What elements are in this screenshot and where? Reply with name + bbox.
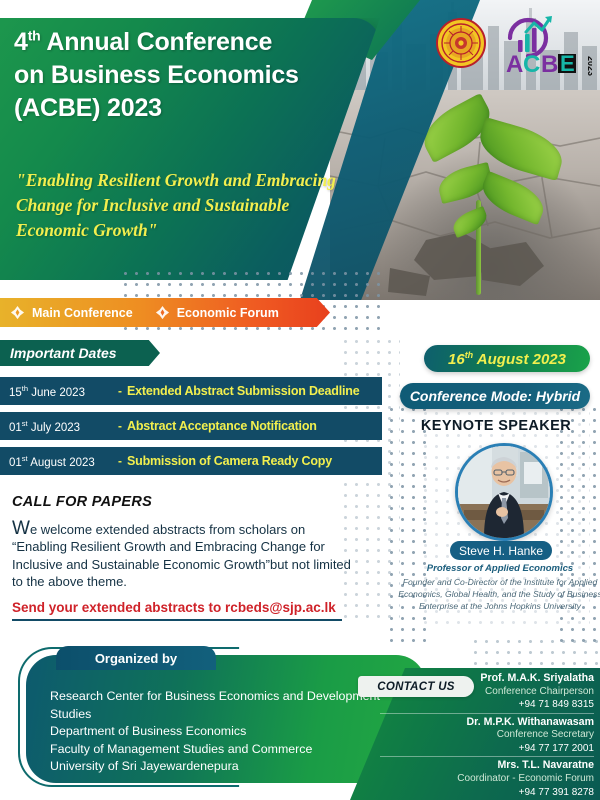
contact-role: Coordinator - Economic Forum [380,773,594,786]
diamond-ornament-icon [155,305,170,320]
contact-phone[interactable]: +94 71 849 8315 [380,698,594,713]
date-event: Submission of Camera Ready Copy [127,454,332,468]
date-event: Extended Abstract Submission Deadline [127,384,359,398]
submission-email-line[interactable]: Send your extended abstracts to rcbeds@s… [12,600,342,621]
date-cell: 15th June 2023 [0,384,113,399]
svg-text:E: E [560,51,575,76]
svg-text:2023: 2023 [586,56,592,76]
speaker-role: Professor of Applied Economics [400,563,600,574]
call-for-papers-heading: CALL FOR PAPERS [12,494,152,510]
important-dates-heading: Important Dates [0,340,160,366]
title-line-1: 4th Annual Conference [14,28,272,56]
event-date-text: 16th August 2023 [448,350,566,368]
logo-group: A C B E 2023 [436,14,596,76]
contact-name: Mrs. T.L. Navaratne [380,759,594,773]
svg-text:B: B [541,51,558,76]
table-row: 01st July 2023 - Abstract Acceptance Not… [0,412,382,440]
acbe-logo-icon: A C B E 2023 [504,14,592,76]
speaker-affiliation: Founder and Co-Director of the Institute… [398,576,600,612]
date-cell: 01st August 2023 [0,454,113,469]
track-label: Economic Forum [177,306,279,320]
date-separator: - [113,454,127,468]
title-line-2: on Business Economics [14,61,299,89]
conference-tracks-strip: Main Conference Economic Forum [0,298,330,327]
speaker-avatar [455,443,553,541]
event-date-badge: 16th August 2023 [424,345,590,372]
contact-list: Prof. M.A.K. Sriyalatha Conference Chair… [380,672,600,800]
conference-mode-badge: Conference Mode: Hybrid [400,383,590,409]
organizer-line: Research Center for Business Economics a… [50,688,380,723]
table-row: 15th June 2023 - Extended Abstract Submi… [0,377,382,405]
track-label: Main Conference [32,306,133,320]
contact-role: Conference Chairperson [380,686,594,699]
table-row: 01st August 2023 - Submission of Camera … [0,447,382,475]
speaker-name-badge: Steve H. Hanke [450,541,552,560]
title-line-3: (ACBE) 2023 [14,94,162,122]
contact-phone[interactable]: +94 77 391 8278 [380,786,594,800]
list-item: Prof. M.A.K. Sriyalatha Conference Chair… [380,672,594,714]
track-main-conference[interactable]: Main Conference [0,305,133,320]
page-title: 4th Annual Conference on Business Econom… [14,26,344,125]
conference-poster: 4th Annual Conference on Business Econom… [0,0,600,800]
organizer-line: Faculty of Management Studies and Commer… [50,741,380,759]
organized-by-heading: Organized by [56,646,216,670]
hero-header: 4th Annual Conference on Business Econom… [0,0,600,300]
acbe-wordmark: A [506,51,523,76]
keynote-speaker-heading: KEYNOTE SPEAKER [398,418,594,434]
contact-name: Dr. M.P.K. Withanawasam [380,716,594,730]
list-item: Dr. M.P.K. Withanawasam Conference Secre… [380,716,594,758]
date-event: Abstract Acceptance Notification [127,419,317,433]
speaker-photo [458,446,550,538]
diamond-ornament-icon [10,305,25,320]
cfp-text: e welcome extended abstracts from schola… [12,522,351,589]
call-for-papers-body: We welcome extended abstracts from schol… [12,520,352,591]
date-cell: 01st July 2023 [0,419,113,434]
contact-name: Prof. M.A.K. Sriyalatha [380,672,594,686]
organizer-line: University of Sri Jayewardenepura [50,758,380,776]
dropcap: W [12,518,30,539]
organizer-details: Research Center for Business Economics a… [50,688,380,776]
date-separator: - [113,419,127,433]
conference-theme: "Enabling Resilient Growth and Embracing… [16,168,346,243]
track-economic-forum[interactable]: Economic Forum [133,305,279,320]
university-seal-icon [436,18,486,68]
contact-role: Conference Secretary [380,729,594,742]
list-item: Mrs. T.L. Navaratne Coordinator - Econom… [380,759,594,800]
contact-phone[interactable]: +94 77 177 2001 [380,742,594,757]
date-separator: - [113,384,127,398]
svg-text:C: C [523,51,540,76]
organizer-line: Department of Business Economics [50,723,380,741]
